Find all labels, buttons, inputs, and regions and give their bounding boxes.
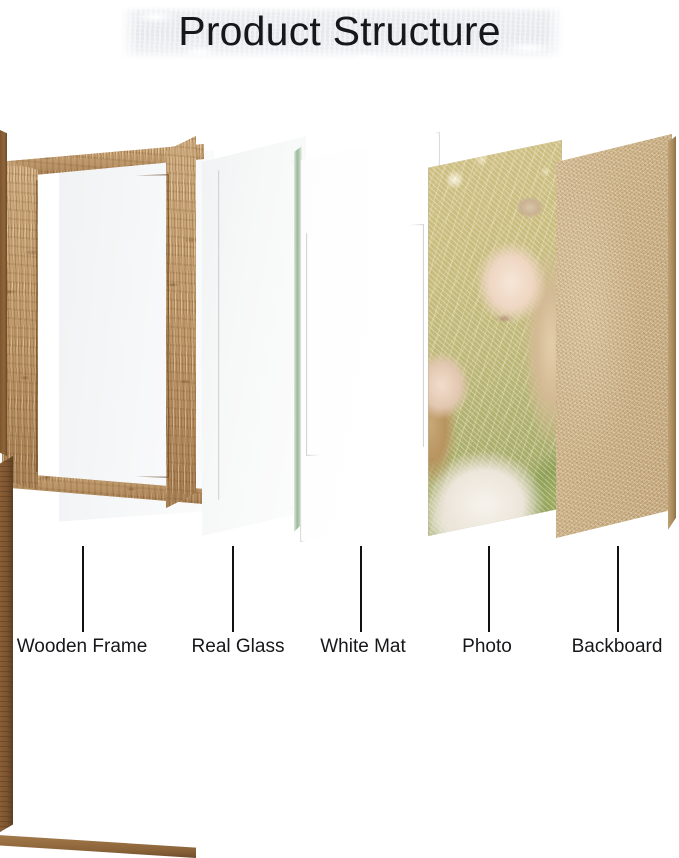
part-label-real-glass: Real Glass — [192, 636, 285, 658]
leader-line-wooden-frame — [82, 546, 84, 632]
leader-line-photo — [488, 546, 490, 632]
leader-line-white-mat — [360, 546, 362, 632]
leader-line-real-glass — [232, 546, 234, 632]
leader-line-backboard — [617, 546, 619, 632]
part-labels-row: Wooden Frame Real Glass White Mat Photo … — [0, 636, 679, 667]
part-label-backboard: Backboard — [572, 636, 663, 658]
part-label-wooden-frame: Wooden Frame — [17, 636, 148, 658]
part-label-white-mat: White Mat — [320, 636, 406, 658]
part-label-photo: Photo — [462, 636, 512, 658]
leader-lines-group — [0, 0, 679, 667]
wooden-frame-bottom-side-profile — [0, 832, 196, 858]
